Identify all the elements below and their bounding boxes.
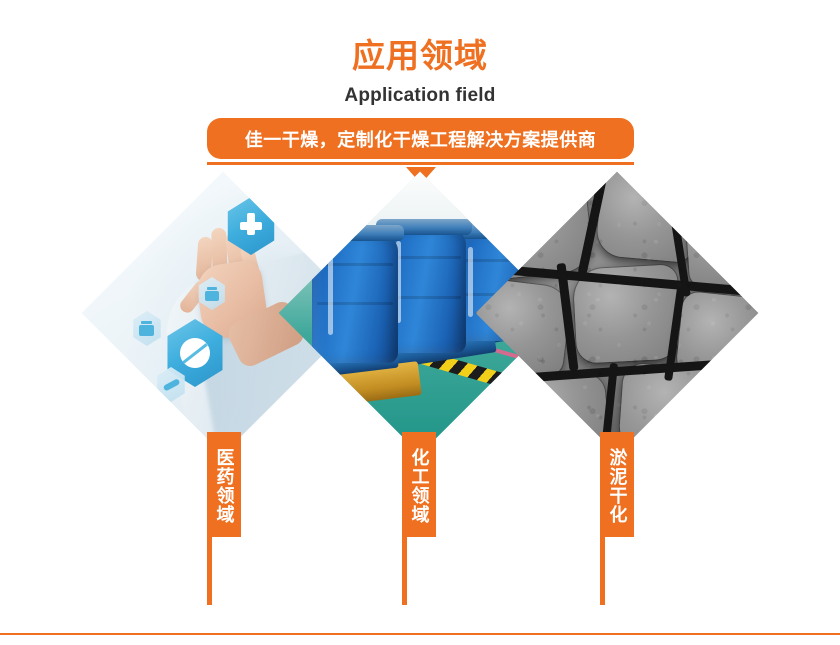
bottom-divider (0, 633, 840, 635)
drum-highlight (468, 247, 473, 317)
chemical-drum-icon (312, 235, 398, 363)
slogan-banner-body: 佳一干燥，定制化干燥工程解决方案提供商 (207, 118, 634, 159)
banner-divider (207, 162, 634, 165)
slogan-text: 佳一干燥，定制化干燥工程解决方案提供商 (245, 126, 597, 152)
card-label-text: 淤泥干化 (605, 448, 630, 524)
bottle-body-glyph (205, 291, 218, 301)
card-label-text: 医药领域 (212, 448, 237, 524)
page-subtitle: Application field (0, 84, 840, 108)
label-box[interactable]: 医药领域 (207, 432, 241, 537)
label-box[interactable]: 化工领域 (402, 432, 436, 537)
jar-body-glyph (139, 325, 154, 336)
cross-horizontal-bar (240, 222, 262, 230)
jar-cap-glyph (141, 321, 153, 324)
page-title: 应用领域 (0, 36, 840, 76)
drum-lid (306, 225, 404, 241)
application-field-section: 应用领域 Application field 佳一干燥，定制化干燥工程解决方案提… (0, 0, 840, 645)
flag-pole (402, 537, 407, 605)
flag-pole (600, 537, 605, 605)
label-box[interactable]: 淤泥干化 (600, 432, 634, 537)
bottle-cap-glyph (207, 287, 217, 290)
card-image-sludge (476, 172, 759, 455)
flag-pole (207, 537, 212, 605)
card-label-text: 化工领域 (407, 448, 432, 524)
sludge-scene (476, 172, 759, 455)
sludge-texture-grain (476, 172, 759, 455)
capsule-glyph (162, 379, 179, 392)
drum-highlight (328, 249, 333, 335)
